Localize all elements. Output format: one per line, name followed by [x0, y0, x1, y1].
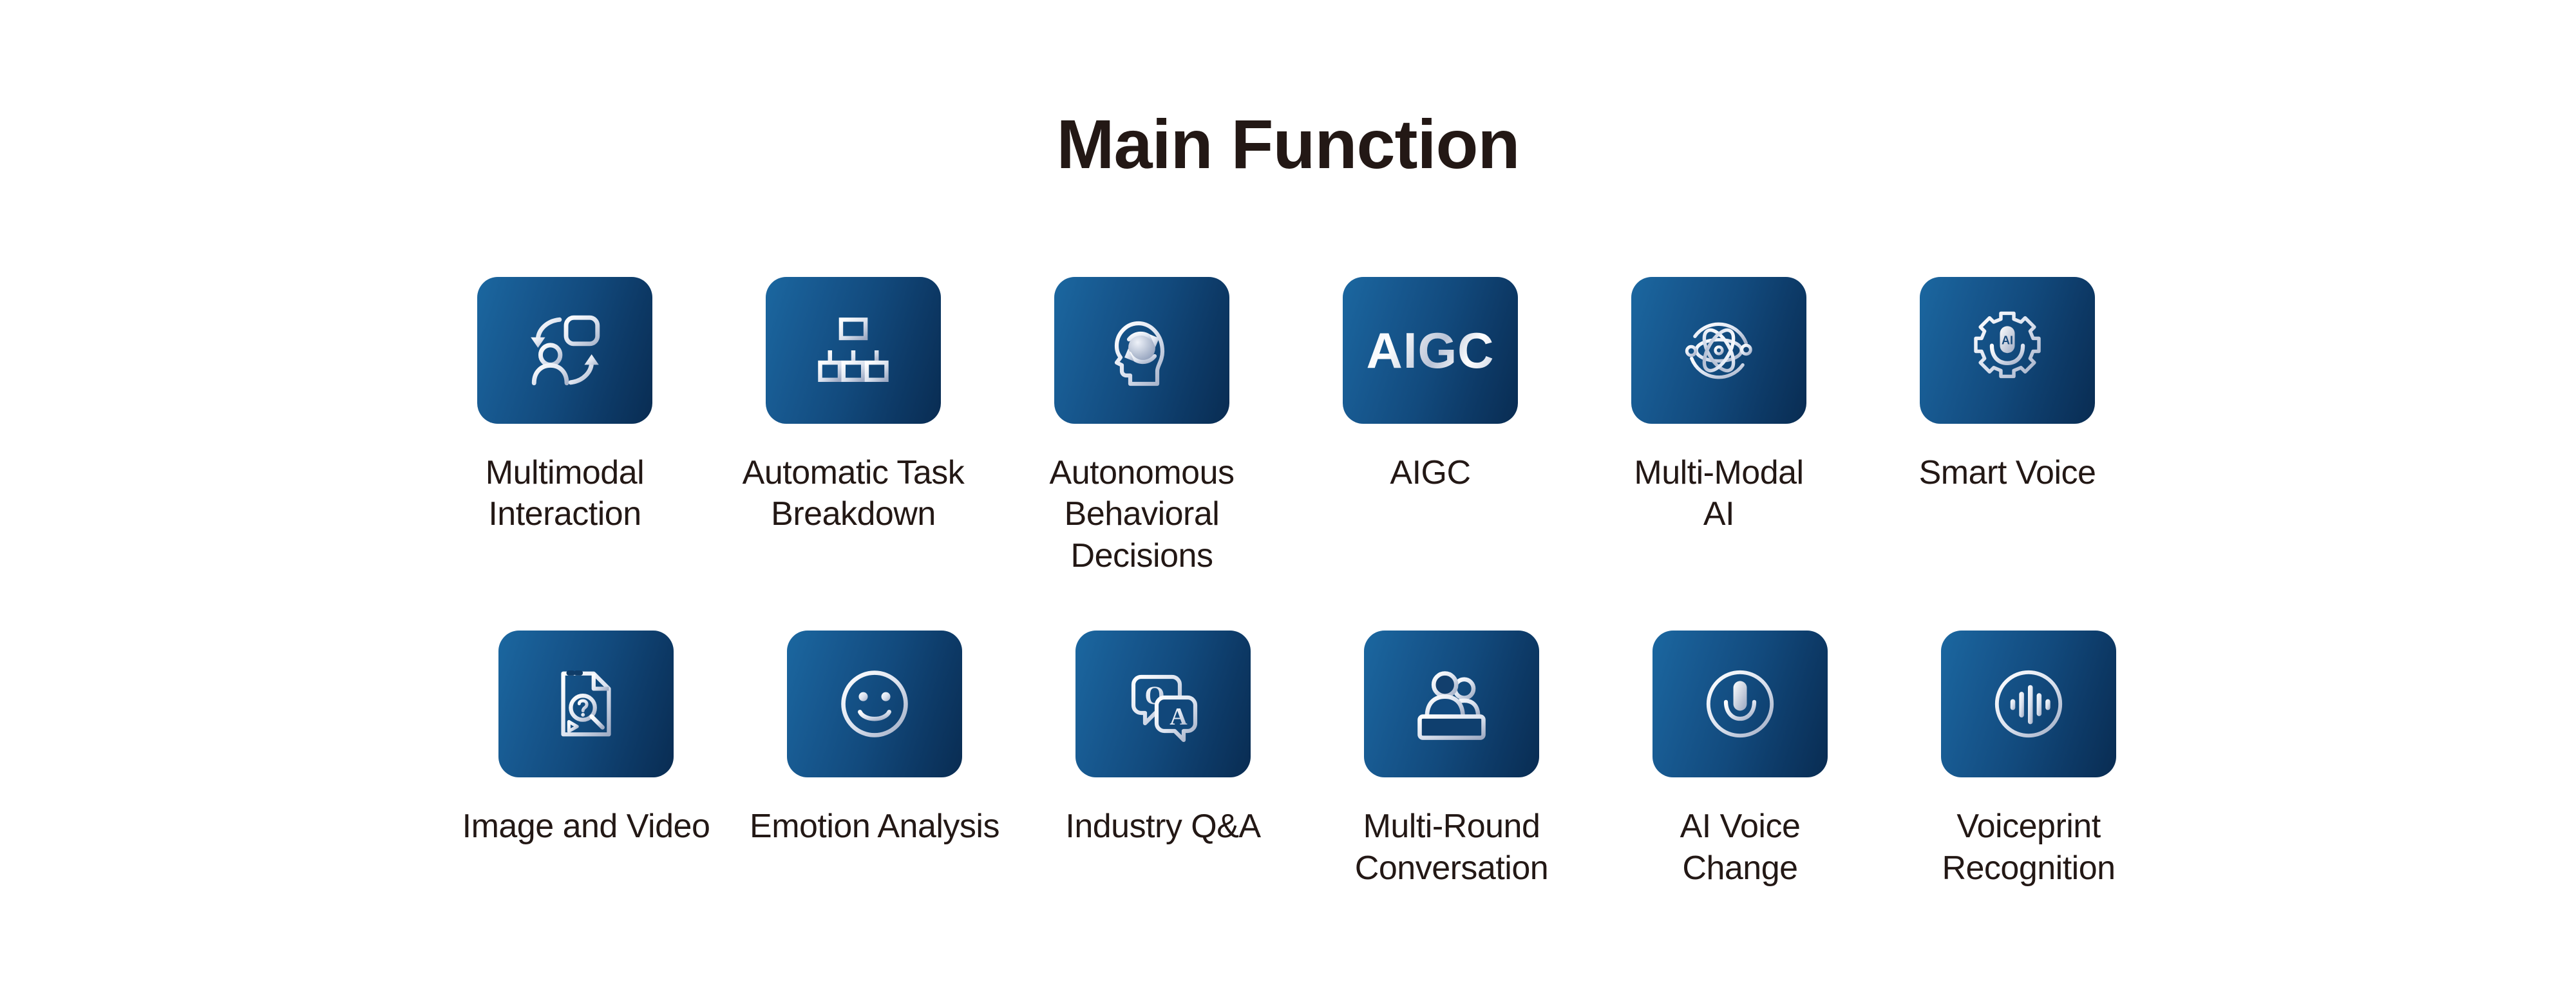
feature-item-image-and-video[interactable]: Image and Video — [442, 631, 730, 847]
feature-tile[interactable]: AI — [1920, 277, 2095, 424]
feature-label: AIGC — [1390, 452, 1470, 493]
feature-tile[interactable] — [1941, 631, 2116, 777]
people-counter-icon — [1409, 661, 1494, 746]
feature-label: Multi-Round Conversation — [1355, 806, 1548, 889]
smiley-face-icon — [832, 661, 917, 746]
multimodal-interaction-icon — [523, 308, 607, 392]
svg-text:A: A — [1170, 703, 1188, 730]
qa-speech-bubbles-icon: Q A — [1122, 663, 1204, 745]
feature-tile[interactable] — [1653, 631, 1828, 777]
gear-microphone-ai-icon: AI — [1964, 307, 2050, 394]
feature-item-emotion-analysis[interactable]: Emotion Analysis — [730, 631, 1019, 847]
feature-item-ai-voice-change[interactable]: AI Voice Change — [1596, 631, 1884, 889]
feature-row-2: Image and Video — [39, 631, 2576, 889]
feature-tile[interactable] — [498, 631, 674, 777]
feature-tile[interactable]: AIGC — [1343, 277, 1518, 424]
feature-label: Autonomous Behavioral Decisions — [1050, 452, 1235, 576]
feature-item-smart-voice[interactable]: AI Smart Voice — [1863, 277, 2152, 493]
feature-item-autonomous-behavioral-decisions[interactable]: Autonomous Behavioral Decisions — [998, 277, 1286, 576]
page-title: Main Function — [0, 109, 2576, 179]
voiceprint-waveform-icon — [1985, 661, 2072, 747]
feature-item-multi-round-conversation[interactable]: Multi-Round Conversation — [1307, 631, 1596, 889]
feature-item-automatic-task-breakdown[interactable]: Automatic Task Breakdown — [709, 277, 998, 535]
feature-label: Image and Video — [462, 806, 710, 847]
feature-tile[interactable] — [787, 631, 962, 777]
feature-tile[interactable]: Q A — [1075, 631, 1251, 777]
microphone-circle-icon — [1697, 661, 1783, 747]
feature-item-multimodal-interaction[interactable]: Multimodal Interaction — [421, 277, 709, 535]
feature-label: Multimodal Interaction — [486, 452, 644, 535]
feature-label: Smart Voice — [1919, 452, 2096, 493]
feature-label: Voiceprint Recognition — [1942, 806, 2115, 889]
document-search-video-icon — [545, 663, 627, 745]
feature-row-1: Multimodal Interaction — [0, 277, 2576, 576]
feature-label: Emotion Analysis — [750, 806, 999, 847]
feature-label: Industry Q&A — [1065, 806, 1260, 847]
atom-orbit-icon — [1676, 308, 1761, 393]
feature-item-industry-qa[interactable]: Q A Industry Q&A — [1019, 631, 1307, 847]
head-decision-cycle-icon — [1101, 309, 1183, 392]
feature-tile[interactable] — [1364, 631, 1539, 777]
task-breakdown-hierarchy-icon — [814, 311, 893, 390]
aigc-text-icon: AIGC — [1367, 325, 1495, 375]
feature-item-aigc[interactable]: AIGC AIGC — [1286, 277, 1575, 493]
feature-tile[interactable] — [1631, 277, 1806, 424]
feature-tile[interactable] — [1054, 277, 1229, 424]
feature-tile[interactable] — [766, 277, 941, 424]
feature-label: AI Voice Change — [1680, 806, 1801, 889]
feature-grid: Multimodal Interaction — [0, 277, 2576, 889]
feature-label: Automatic Task Breakdown — [743, 452, 965, 535]
feature-item-multi-modal-ai[interactable]: Multi-Modal AI — [1575, 277, 1863, 535]
svg-text:AI: AI — [2002, 334, 2013, 347]
feature-tile[interactable] — [477, 277, 652, 424]
feature-label: Multi-Modal AI — [1634, 452, 1803, 535]
main-function-page: Main Function — [0, 0, 2576, 1006]
feature-item-voiceprint-recognition[interactable]: Voiceprint Recognition — [1884, 631, 2173, 889]
